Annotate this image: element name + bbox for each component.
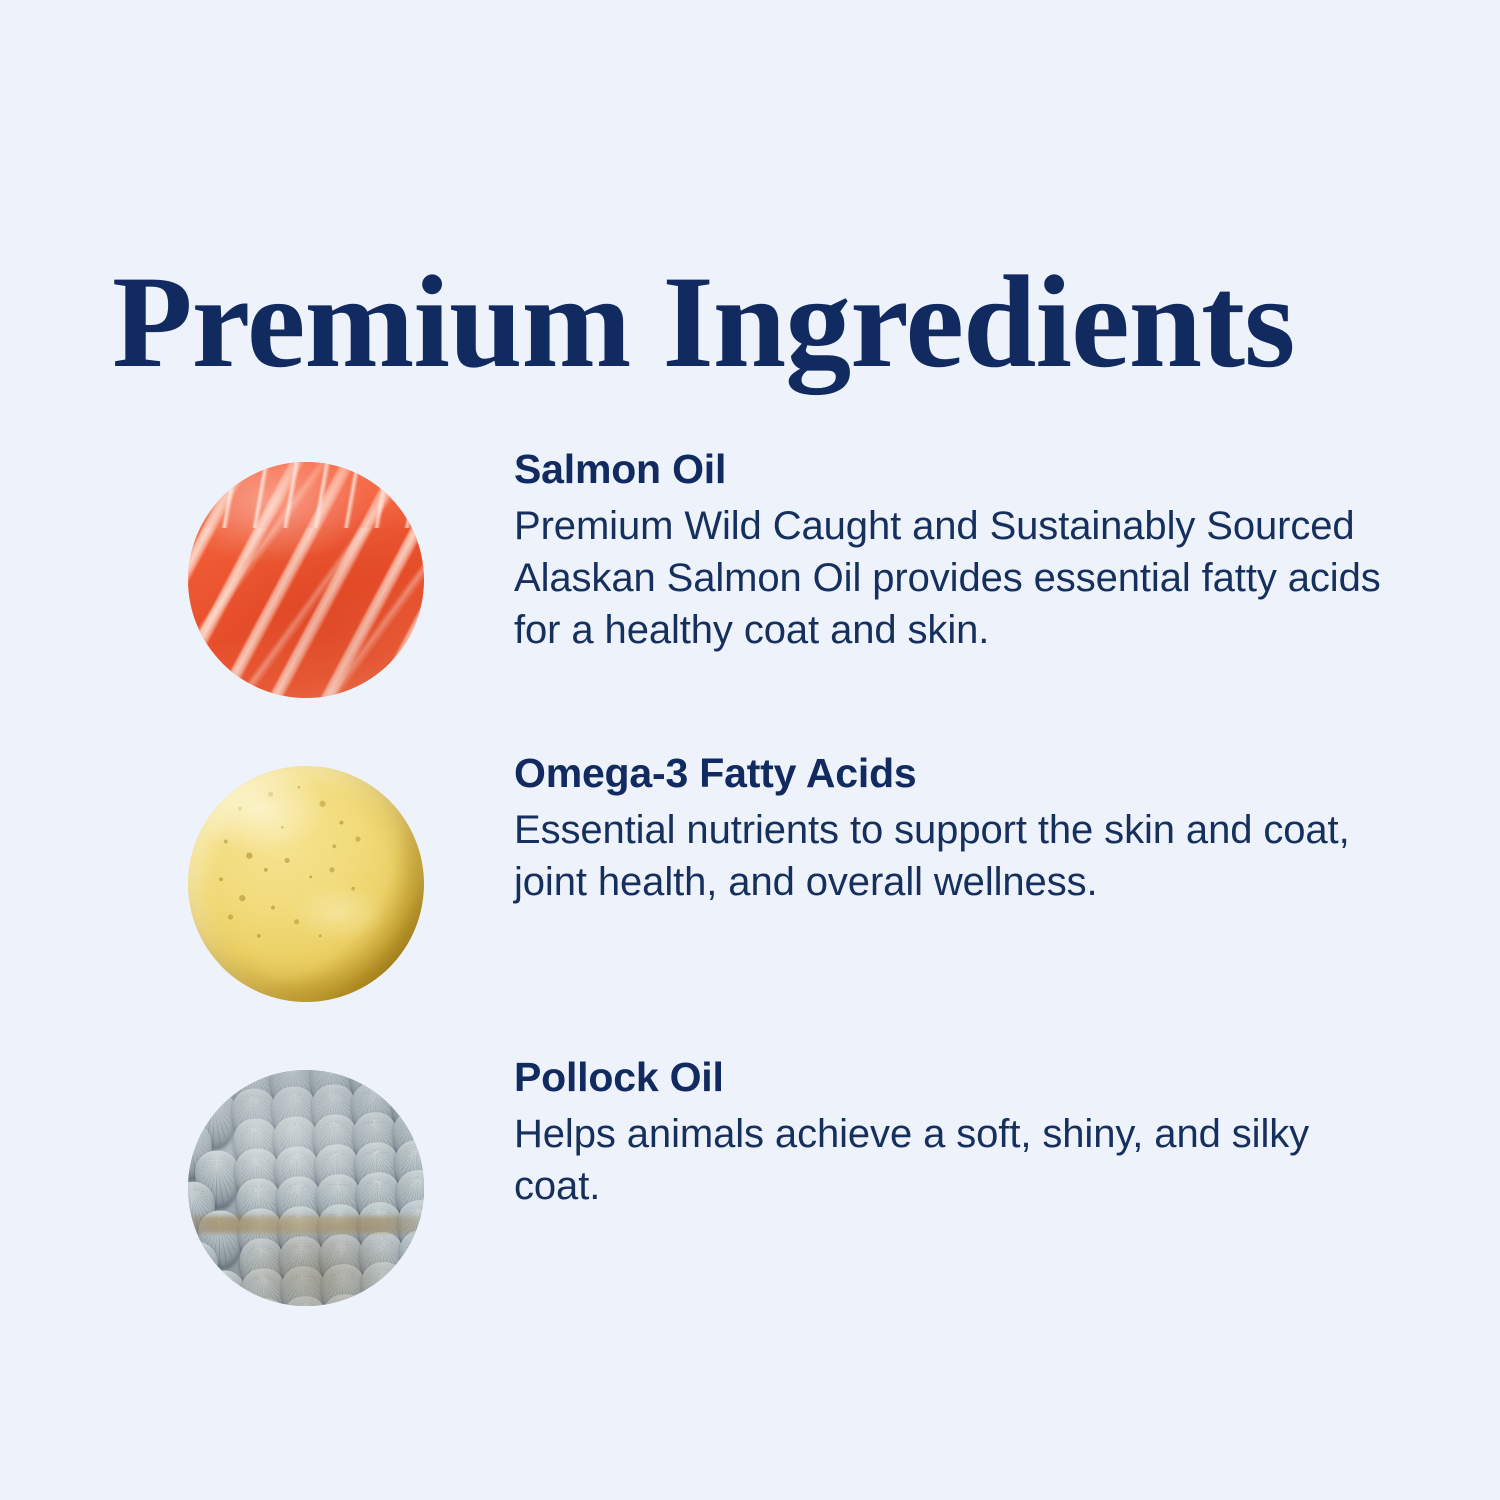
ingredient-title: Omega-3 Fatty Acids (514, 748, 1394, 798)
golden-oil-droplet-swatch-icon (188, 766, 424, 1002)
ingredient-description: Premium Wild Caught and Sustainably Sour… (514, 500, 1394, 656)
scales-shading-layer (188, 1070, 424, 1306)
salmon-gloss-layer (188, 462, 424, 698)
ingredient-text-block: Salmon Oil Premium Wild Caught and Susta… (426, 440, 1394, 656)
ingredient-title: Salmon Oil (514, 444, 1394, 494)
ingredient-item-salmon-oil: Salmon Oil Premium Wild Caught and Susta… (0, 440, 1500, 678)
swatch-container (188, 440, 426, 678)
premium-ingredients-panel: Premium Ingredients Salmon Oil Premium W… (0, 0, 1500, 1500)
ingredient-list: Salmon Oil Premium Wild Caught and Susta… (0, 440, 1500, 1352)
fish-scales-swatch-icon (188, 1070, 424, 1306)
ingredient-item-pollock-oil: Pollock Oil Helps animals achieve a soft… (0, 1048, 1500, 1286)
ingredient-text-block: Omega-3 Fatty Acids Essential nutrients … (426, 744, 1394, 908)
ingredient-title: Pollock Oil (514, 1052, 1394, 1102)
ingredient-description: Essential nutrients to support the skin … (514, 804, 1394, 908)
ingredient-description: Helps animals achieve a soft, shiny, and… (514, 1108, 1394, 1212)
oil-highlight-layer (188, 766, 424, 1002)
swatch-container (188, 1048, 426, 1286)
salmon-fillet-swatch-icon (188, 462, 424, 698)
page-title: Premium Ingredients (112, 256, 1402, 388)
swatch-container (188, 744, 426, 982)
ingredient-text-block: Pollock Oil Helps animals achieve a soft… (426, 1048, 1394, 1212)
ingredient-item-omega-3-fatty-acids: Omega-3 Fatty Acids Essential nutrients … (0, 744, 1500, 982)
